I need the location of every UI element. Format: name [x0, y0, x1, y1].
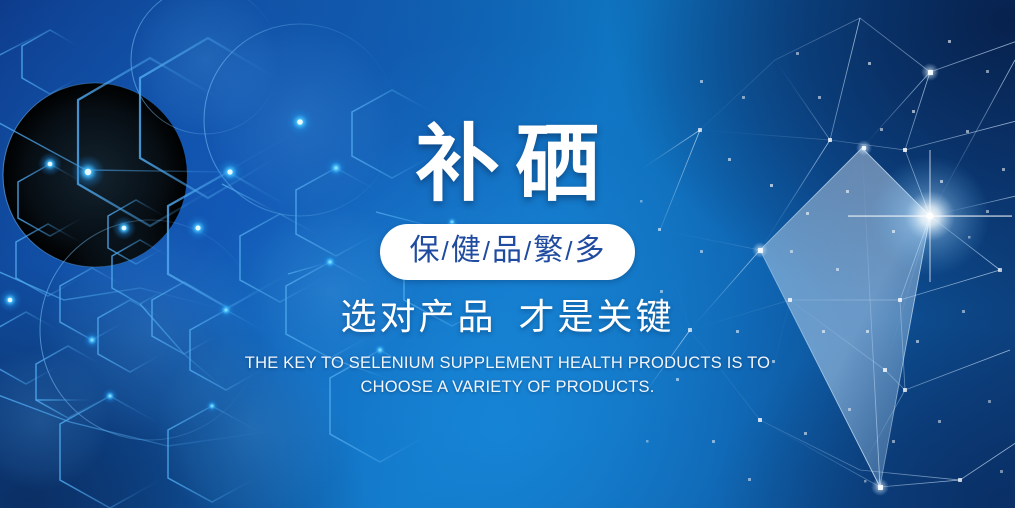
badge-item-2: 品 [492, 234, 523, 267]
badge-separator-3: / [564, 236, 574, 266]
badge-item-0: 保 [410, 234, 441, 267]
selenium-supplement-banner: 补硒 保/健/品/繁/多 选对产品才是关键 THE KEY TO SELENIU… [0, 0, 1015, 508]
badge-separator-2: / [523, 236, 533, 266]
badge-item-1: 健 [451, 234, 482, 267]
page-title: 补硒 [399, 122, 615, 206]
badge-item-3: 繁 [533, 234, 564, 267]
subtitle-right: 才是关键 [519, 296, 675, 337]
status-badge: 保/健/品/繁/多 [380, 224, 636, 280]
badge-separator-1: / [482, 236, 492, 266]
english-caption: THE KEY TO SELENIUM SUPPLEMENT HEALTH PR… [223, 352, 793, 400]
subtitle-left: 选对产品 [340, 296, 496, 337]
banner-content: 补硒 保/健/品/繁/多 选对产品才是关键 THE KEY TO SELENIU… [0, 0, 1015, 400]
badge-separator-0: / [441, 236, 451, 266]
subtitle: 选对产品才是关键 [340, 297, 674, 337]
badge-item-4: 多 [574, 234, 605, 267]
